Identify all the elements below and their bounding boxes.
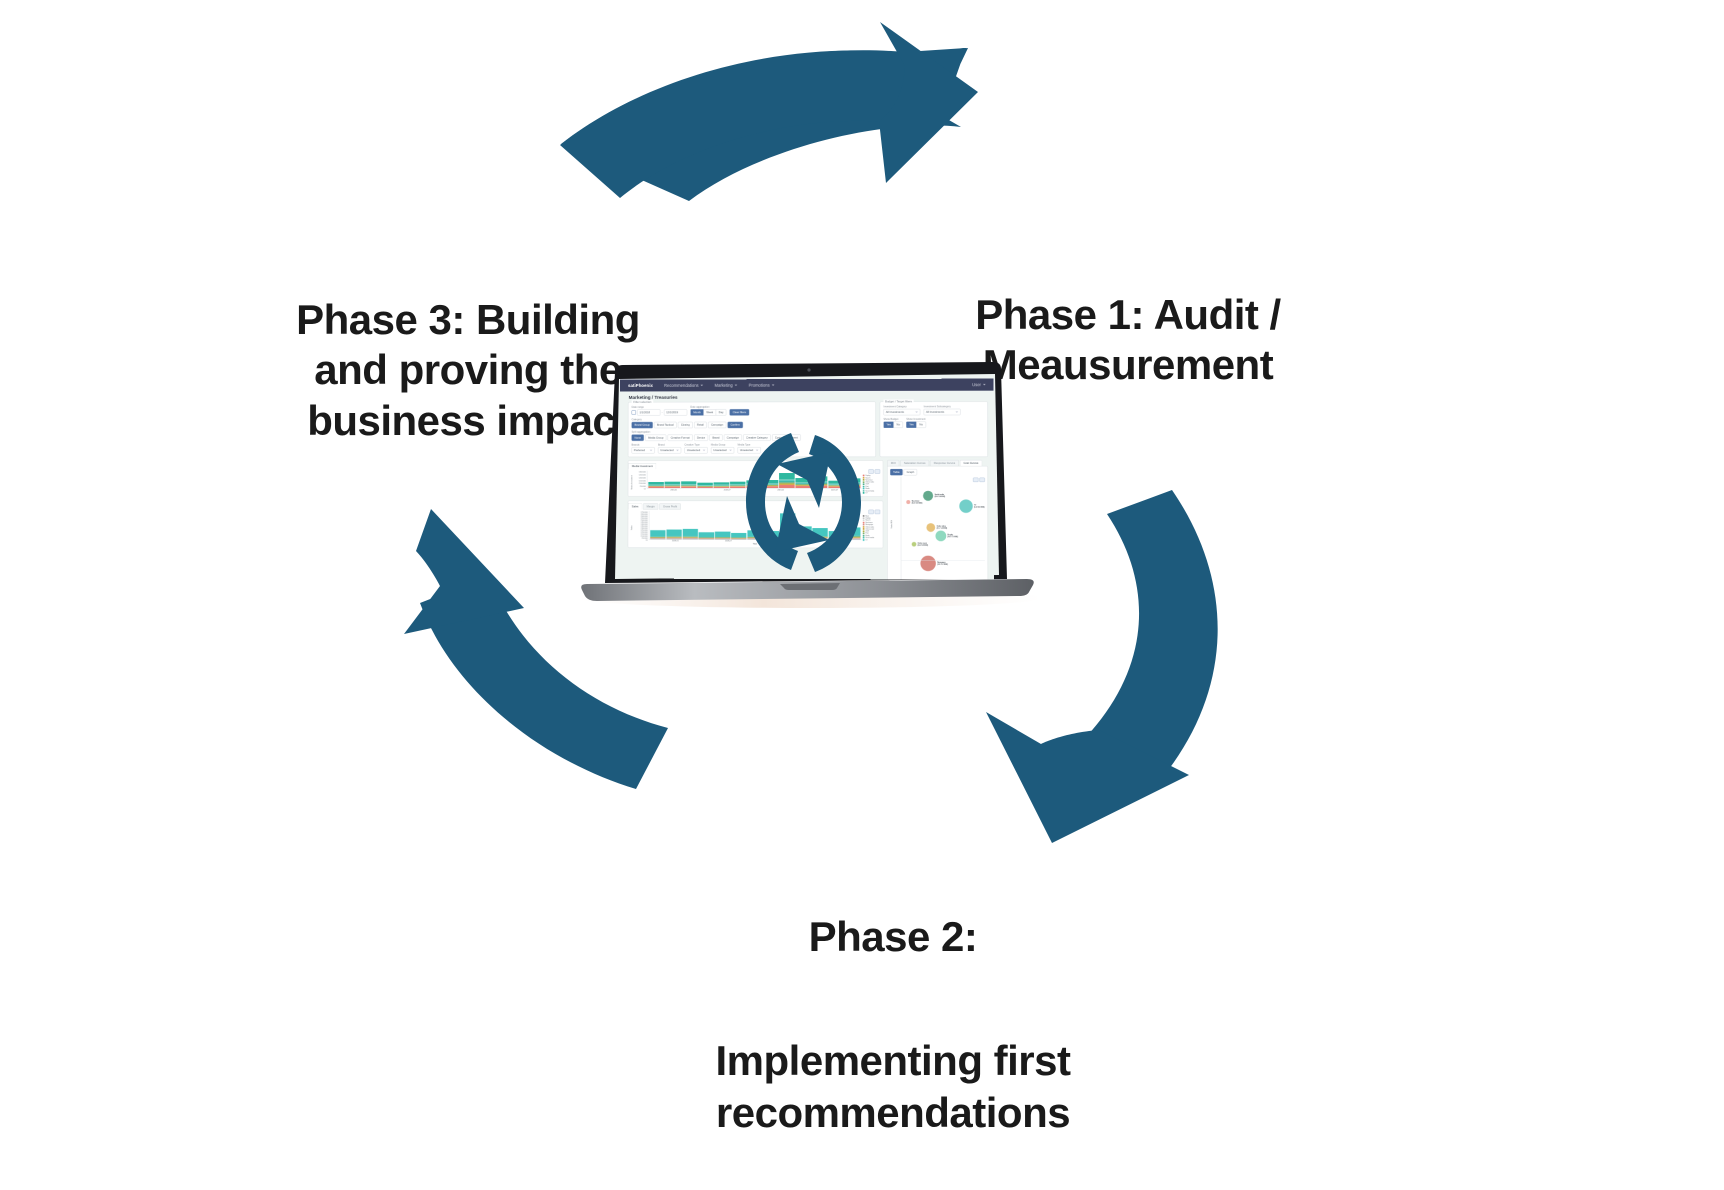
field-label: Date range [632, 405, 687, 408]
split-option-creative-category[interactable]: Creative Category [743, 434, 770, 440]
field-label: Show Investment [906, 418, 926, 421]
phase-2-heading: Phase 2: [716, 912, 1071, 962]
media-chart-xlabel: Time [647, 492, 861, 494]
legend-swatch [863, 539, 865, 541]
sales-chart-bars [649, 511, 862, 540]
chevron-down-icon [676, 450, 679, 451]
panel-title: Filter selection [632, 400, 653, 403]
field-label: Date aggregation [690, 405, 726, 408]
date-row: Date range 1/1/2018 - 12/1/2019 Date agg… [632, 405, 872, 416]
chevron-down-icon [703, 450, 706, 451]
select-input[interactable]: Unselected [684, 447, 707, 453]
show-investment-toggle: Show Investment Yes No [906, 418, 926, 428]
confirm-button[interactable]: Confirm [727, 422, 742, 428]
bar-column [648, 478, 663, 488]
chevron-down-icon [955, 411, 958, 412]
bubble-label: Online video (1.1 / 1.2 000€) [937, 525, 947, 529]
expand-icon[interactable] [875, 510, 880, 514]
tab-gross-profit[interactable]: Gross Profit [659, 503, 680, 509]
category-option-closing[interactable]: Closing [678, 422, 693, 428]
bar-column [697, 478, 713, 488]
toggle-no[interactable]: No [894, 422, 903, 428]
camera-icon [807, 368, 810, 371]
bubble-label: Online event (0.4 / 0.8 000€) [918, 542, 928, 546]
budget-fields: Investment Category All Investments Inve… [883, 405, 984, 416]
bar-column [812, 522, 827, 540]
bubble-point[interactable] [959, 500, 972, 513]
bar-column [747, 523, 762, 539]
chevron-down-icon [772, 385, 775, 386]
filters-region: Filter selection Date range 1/1/2018 - 1… [620, 401, 994, 460]
investment-category-field: Investment Category All Investments [883, 405, 920, 415]
category-option-brand-group[interactable]: Brand Group [632, 422, 653, 428]
bar-segment [845, 527, 860, 535]
bar-column [764, 524, 779, 539]
laptop-mockup: satiPhoenix Recommendations Marketing Pr… [575, 360, 1037, 618]
category-option-brand-tactical[interactable]: Brand Tactical [654, 422, 677, 428]
zoom-icon[interactable] [868, 510, 873, 514]
date-sep: - [662, 411, 663, 414]
toggle-no[interactable]: No [916, 422, 925, 428]
ytick: €300 000 [639, 471, 646, 473]
bar-column [650, 523, 665, 539]
nav-label: Promotions [749, 383, 770, 388]
calendar-icon[interactable] [632, 410, 636, 414]
bar-column [665, 477, 680, 488]
category-options: Brand Group Brand Tactical Closing Retai… [632, 422, 873, 429]
select-input[interactable]: Preferred [632, 447, 655, 453]
media-investment-card: Media Investment Media Investment €300 0… [628, 460, 883, 496]
select-input[interactable]: Unselected [658, 447, 681, 453]
bar-column [681, 477, 697, 488]
field-label: Creative Type [684, 443, 707, 446]
split-options: None Media Group Creative Format Device … [632, 434, 873, 441]
bar-column [699, 525, 714, 539]
split-aggregation-field: Split aggregation None Media Group Creat… [632, 430, 873, 441]
subtab-graph[interactable]: Graph [904, 469, 917, 475]
select-value: All Investments [886, 411, 904, 414]
select-input[interactable]: All Investments [883, 409, 920, 415]
bar-column [796, 475, 812, 488]
select-row: Brands Preferred Brand Unselected [632, 443, 873, 454]
panel-title: Budget / Target filters [883, 400, 913, 403]
select-input[interactable]: All Investments [924, 409, 961, 415]
select-value: All Investments [926, 410, 944, 413]
sales-chart-xlabel: Time [649, 543, 862, 545]
field-label: Brand [658, 443, 681, 446]
agg-option-week[interactable]: Week [703, 409, 715, 415]
legend-label: TV [865, 539, 867, 541]
sales-card: Sales Margin Gross Profit Sales €700 000… [628, 501, 883, 549]
bubble-label: Display (0.6 / 1.0 000€) [948, 534, 958, 538]
show-budget-toggle: Show Budget Yes No [883, 418, 903, 428]
bar-column [779, 472, 795, 488]
bubble-point[interactable] [923, 491, 933, 501]
ytick: €0 [644, 488, 646, 490]
category-option-retail[interactable]: Retail [694, 422, 707, 428]
split-option-creative-format[interactable]: Creative Format [668, 434, 693, 440]
select-value: Preferred [634, 449, 645, 452]
left-charts-column: Media Investment Media Investment €300 0… [628, 460, 884, 579]
select-value: Unselected [740, 449, 753, 452]
chevron-down-icon [983, 384, 986, 385]
laptop-screen: satiPhoenix Recommendations Marketing Pr… [620, 379, 994, 580]
select-input[interactable]: Unselected [711, 447, 734, 453]
media-chart-legend: DisplaySearchNon-linearOnline videoOOHPr… [863, 471, 880, 494]
media-chart-tabs: Media Investment [628, 463, 883, 469]
dashboard-app: satiPhoenix Recommendations Marketing Pr… [620, 379, 994, 580]
bar-column [715, 524, 730, 539]
field-label: Show Budget [883, 418, 903, 421]
nav-item-marketing[interactable]: Marketing [715, 383, 738, 388]
chevron-down-icon [729, 450, 732, 451]
cost-chart-ylabel: Sales ROI [891, 520, 893, 528]
charts-region: Media Investment Media Investment €300 0… [620, 460, 994, 579]
toggle-yes[interactable]: Yes [906, 422, 916, 428]
select-creative-type: Creative Type Unselected [684, 443, 707, 453]
bar-column [845, 521, 860, 540]
field-label: Brands [632, 443, 655, 446]
nav-label: Marketing [715, 383, 733, 388]
toggle-segmented: Yes No [906, 422, 926, 428]
legend-item: TV [863, 539, 880, 541]
agg-option-month[interactable]: Month [690, 409, 703, 415]
ytick: €0 [646, 539, 648, 541]
split-option-none[interactable]: None [632, 435, 644, 441]
bar-column [796, 520, 811, 539]
split-option-brand[interactable]: Brand [709, 434, 722, 440]
media-chart-plot: Media Investment €300 000 €250 000 €200 … [631, 471, 880, 494]
breadcrumb: Marketing / Treasuries [620, 391, 994, 402]
bar-column [828, 477, 844, 488]
bubble-point[interactable] [927, 523, 936, 532]
field-label: Investment Category [883, 405, 920, 408]
bubble-label: Social media (0.8 / 2.4 000€) [935, 494, 945, 498]
bubble-label: Newspaper (0.3 / 1.5 000€) [937, 561, 947, 565]
toggle-yes[interactable]: Yes [883, 422, 893, 428]
bubble-point[interactable] [921, 556, 936, 571]
select-value: Unselected [687, 449, 700, 452]
select-value: Unselected [713, 449, 726, 452]
phase-2-body: Implementing first recommendations [716, 1035, 1071, 1139]
date-aggregation-field: Date aggregation Month Week Day [690, 405, 726, 415]
expand-icon[interactable] [875, 469, 880, 473]
cost-curves-plot: Social media (0.8 / 2.4 000€)Online vide… [901, 477, 985, 580]
select-brand: Brand Unselected [658, 443, 681, 453]
ytick: €150 000 [639, 480, 646, 482]
bubble-label: Non-linear (0.2 / 0.3 000€) [912, 500, 922, 504]
sales-chart-yticks: €700 000€650 000€600 000€550 000€500 000… [634, 511, 647, 545]
dashboard-navbar: satiPhoenix Recommendations Marketing Pr… [620, 379, 994, 392]
category-field: Category Brand Group Brand Tactical Clos… [632, 418, 873, 429]
tab-media-investment[interactable]: Media Investment [628, 463, 656, 469]
brand-logo[interactable]: satiPhoenix [628, 383, 653, 388]
chevron-down-icon [650, 450, 653, 451]
toggle-segmented: Yes No [883, 422, 903, 428]
bubble-point[interactable] [912, 542, 917, 547]
tab-sales[interactable]: Sales [628, 503, 642, 509]
bar-column [845, 475, 861, 488]
bar-column [730, 477, 746, 488]
right-charts-column: ROI Saturation Curves Response Curves Co… [887, 460, 988, 579]
diagram-canvas: Phase 1: Audit / Meausurement Phase 3: B… [0, 0, 1724, 1102]
chart-toolbar [868, 469, 880, 473]
media-chart-yticks: €300 000 €250 000 €200 000 €150 000 €100… [634, 471, 645, 494]
field-label: Split aggregation [632, 430, 873, 433]
investment-subcategory-field: Investment Subcategory All Investments [924, 405, 961, 415]
tab-margin[interactable]: Margin [643, 503, 658, 509]
category-option-campaign[interactable]: Campaign [708, 422, 726, 428]
legend-label: TV [865, 492, 867, 494]
sales-chart-legend: BaseDisplaySearchNon-linearNewspaperOnli… [863, 511, 880, 545]
split-option-media-group[interactable]: Media Group [645, 435, 666, 441]
clear-all-link[interactable]: Clear all [764, 447, 780, 453]
bar-segment [666, 529, 681, 536]
nav-item-promotions[interactable]: Promotions [749, 383, 775, 388]
laptop-base-notch [780, 583, 840, 590]
nav-label: User [972, 382, 981, 387]
budget-toggles: Show Budget Yes No Show Investment Yes [883, 417, 984, 428]
chevron-down-icon [756, 450, 759, 451]
bar-column [714, 478, 730, 488]
sales-chart-ylabel: Sales [631, 526, 633, 531]
nav-label: Recommendations [664, 383, 698, 388]
chevron-down-icon [915, 411, 918, 412]
chevron-down-icon [701, 385, 704, 386]
bar-segment [812, 528, 827, 536]
split-option-campaign[interactable]: Campaign [724, 434, 742, 440]
bubble-label: TV (1.4 / 9.6 000€) [974, 504, 984, 508]
select-input[interactable]: Unselected [738, 447, 761, 453]
field-label: Media Group [711, 443, 734, 446]
date-range-field: Date range 1/1/2018 - 12/1/2019 [632, 405, 687, 415]
nav-item-recommendations[interactable]: Recommendations [664, 383, 703, 388]
bar-segment [796, 527, 811, 536]
zoom-icon[interactable] [868, 469, 873, 473]
media-chart-bars [647, 471, 861, 489]
select-media-type: Media Type Unselected [738, 443, 761, 453]
bar-segment [780, 513, 795, 531]
legend-swatch [863, 492, 865, 494]
split-option-device[interactable]: Device [694, 434, 708, 440]
ytick: €250 000 [639, 474, 646, 476]
ytick: €100 000 [639, 483, 646, 485]
aggregation-segmented: Month Week Day [690, 409, 726, 415]
bar-column [683, 522, 698, 539]
filter-selection-panel: Filter selection Date range 1/1/2018 - 1… [628, 402, 876, 458]
subtab-table[interactable]: Table [890, 469, 902, 475]
sales-chart-plot: Sales €700 000€650 000€600 000€550 000€5… [631, 511, 880, 545]
ytick: €200 000 [639, 477, 646, 479]
date-from-input[interactable]: 1/1/2018 [637, 409, 660, 415]
bar-column [763, 476, 779, 488]
bar-column [666, 523, 681, 540]
bar-column [812, 474, 828, 488]
cost-curves-card: Table Graph Sales ROI Social media (0.8 … [887, 466, 988, 580]
media-chart-ylabel: Media Investment [631, 475, 633, 489]
chart-toolbar [868, 510, 880, 514]
select-media-group: Media Group Unselected [711, 443, 734, 453]
date-to-input[interactable]: 12/1/2019 [664, 409, 687, 415]
field-label: Investment Subcategory [924, 405, 961, 408]
legend-item: TV [863, 492, 880, 494]
field-label: Category [632, 418, 872, 421]
bubble-point[interactable] [906, 500, 910, 504]
bar-segment [683, 529, 698, 536]
bar-column [731, 526, 746, 540]
sales-chart-tabs: Sales Margin Gross Profit [628, 504, 883, 510]
bubble-point[interactable] [935, 531, 946, 542]
chevron-down-icon [735, 385, 738, 386]
select-value: Unselected [660, 449, 673, 452]
bar-column [780, 512, 795, 539]
nav-item-user[interactable]: User [972, 382, 986, 387]
agg-option-day[interactable]: Day [716, 409, 727, 415]
clear-filters-button[interactable]: Clear filters [730, 409, 749, 415]
bar-column [746, 476, 762, 488]
phase-2-label: Phase 2: Implementing first recommendati… [716, 862, 1071, 1190]
split-option-customer-segment[interactable]: Customer Segment [772, 434, 801, 440]
select-brands: Brands Preferred [632, 443, 655, 453]
bar-column [829, 524, 844, 539]
budget-target-panel: Budget / Target filters Investment Categ… [880, 401, 988, 457]
ytick: €50 000 [640, 485, 646, 487]
field-label: Media Type [738, 443, 761, 446]
